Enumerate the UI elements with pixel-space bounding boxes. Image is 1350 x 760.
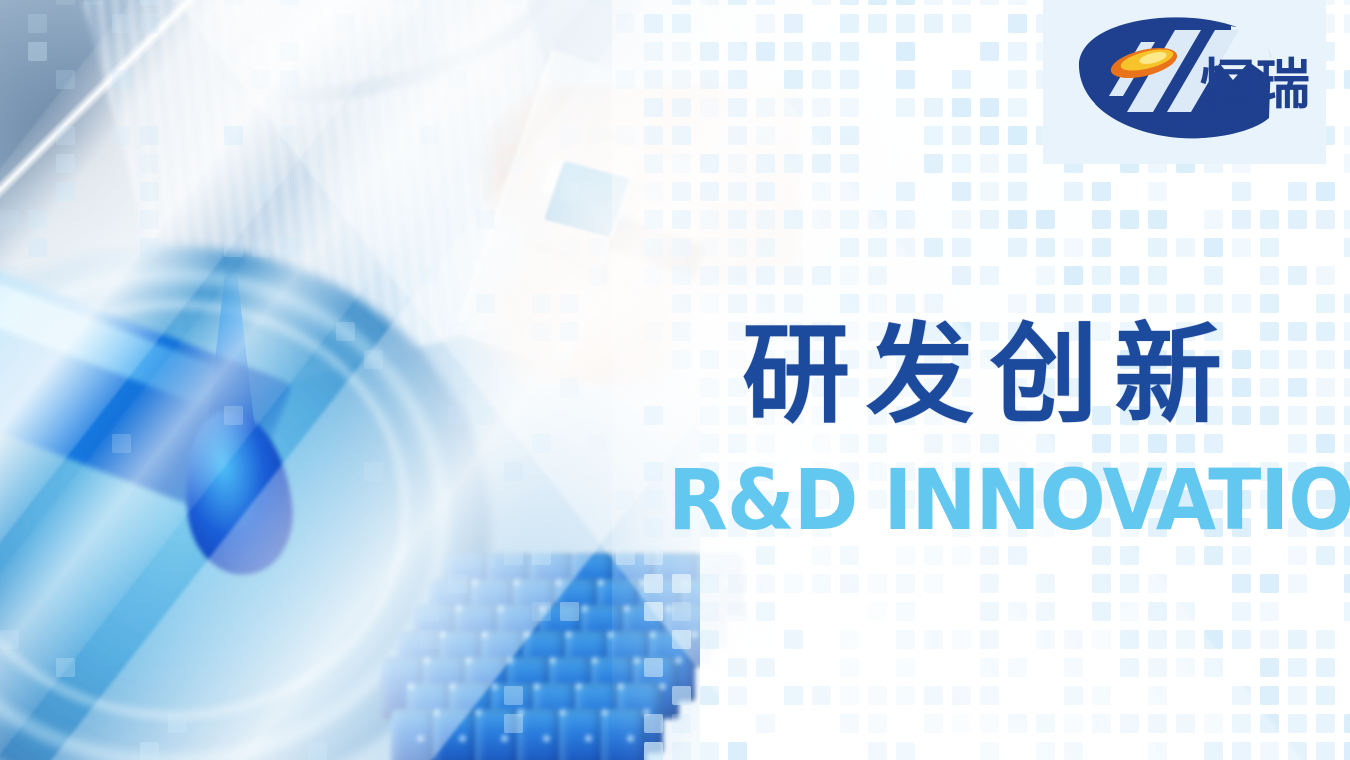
- logo-container[interactable]: 恒瑞: [1043, 0, 1326, 164]
- rd-innovation-banner: 研发创新 R&D INNOVATION 恒瑞: [0, 0, 1350, 760]
- page-title-en: R&D INNOVATION: [668, 458, 1350, 542]
- page-title-cn: 研发创新: [742, 322, 1238, 430]
- logo-company-name: 恒瑞: [1200, 58, 1312, 112]
